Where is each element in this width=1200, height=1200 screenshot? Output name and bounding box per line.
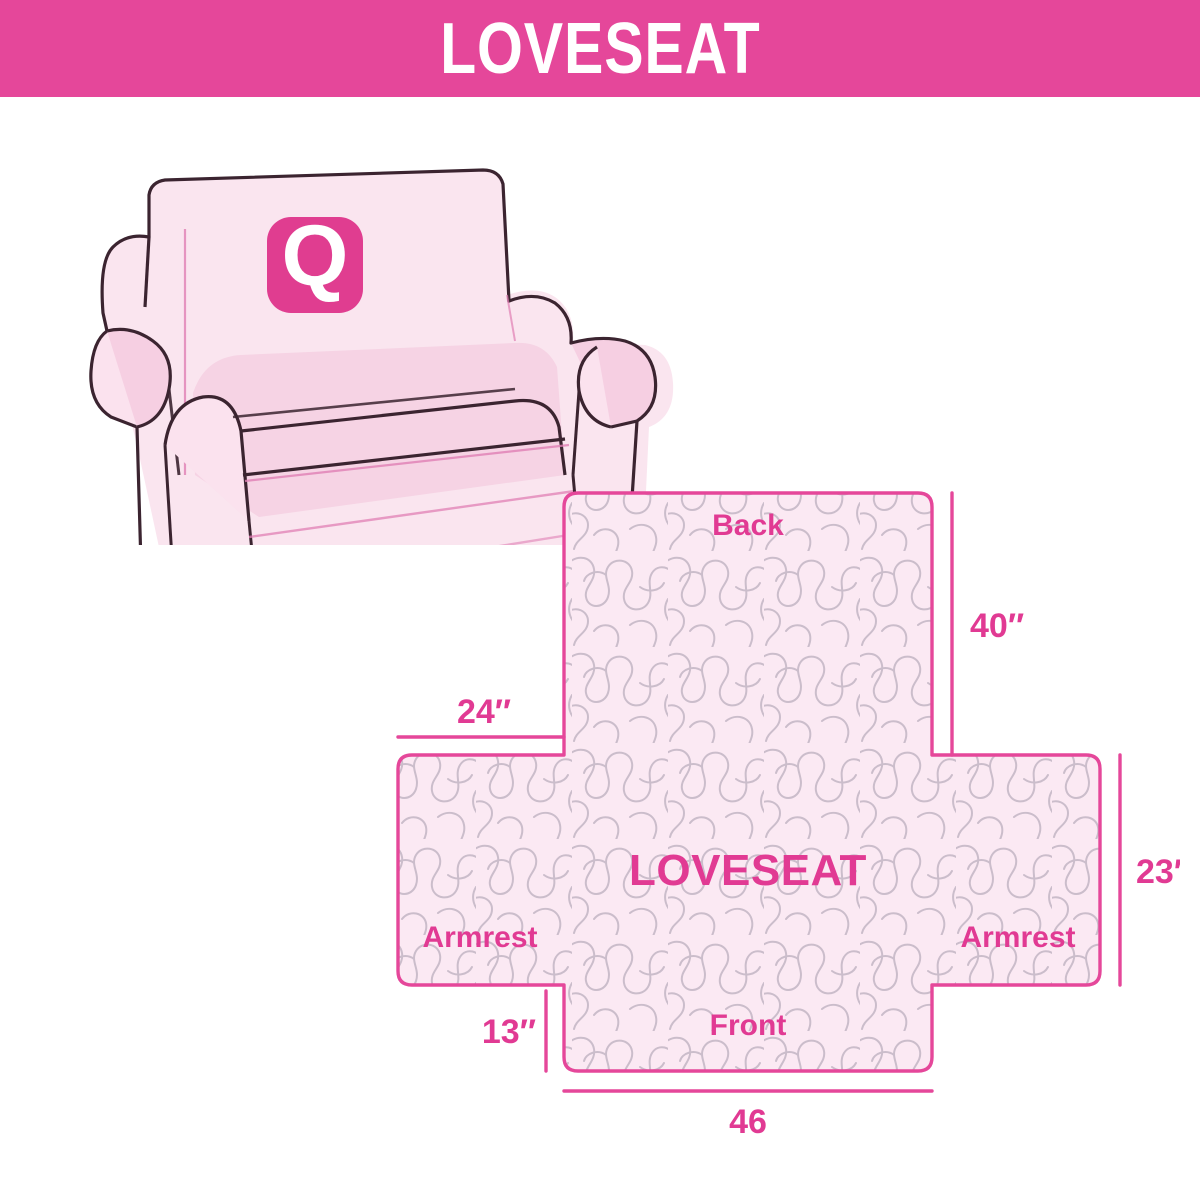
panel-label-armrest-left: Armrest <box>422 921 537 954</box>
dimension-front-drop: 13″ <box>482 991 546 1071</box>
header-banner: LOVESEAT <box>0 0 1200 97</box>
dimension-overall-width: 46 <box>564 1091 932 1141</box>
panel-label-armrest-right: Armrest <box>960 921 1075 954</box>
dimension-label-40: 40″ <box>970 607 1024 645</box>
product-size-chart-page: LOVESEAT <box>0 0 1200 1200</box>
brand-badge-letter: Q <box>282 208 349 304</box>
dimension-label-24: 24″ <box>457 693 511 731</box>
dimension-label-23: 23″ <box>1136 853 1180 891</box>
panel-label-back: Back <box>712 509 784 542</box>
cover-flatlay-diagram: Back LOVESEAT Armrest Armrest Front 40″ … <box>380 455 1180 1155</box>
page-title: LOVESEAT <box>440 13 760 85</box>
dimension-back-height: 40″ <box>952 493 1024 755</box>
dimension-label-13: 13″ <box>482 1013 536 1051</box>
dimension-label-46: 46 <box>729 1103 767 1141</box>
panel-label-front: Front <box>710 1009 787 1042</box>
dimension-armrest-depth: 24″ <box>398 693 564 737</box>
dimension-seat-height: 23″ <box>1120 755 1180 985</box>
center-label-loveseat: LOVESEAT <box>629 846 867 895</box>
cover-outline-shape <box>398 493 1100 1071</box>
brand-badge-q: Q <box>267 208 363 313</box>
